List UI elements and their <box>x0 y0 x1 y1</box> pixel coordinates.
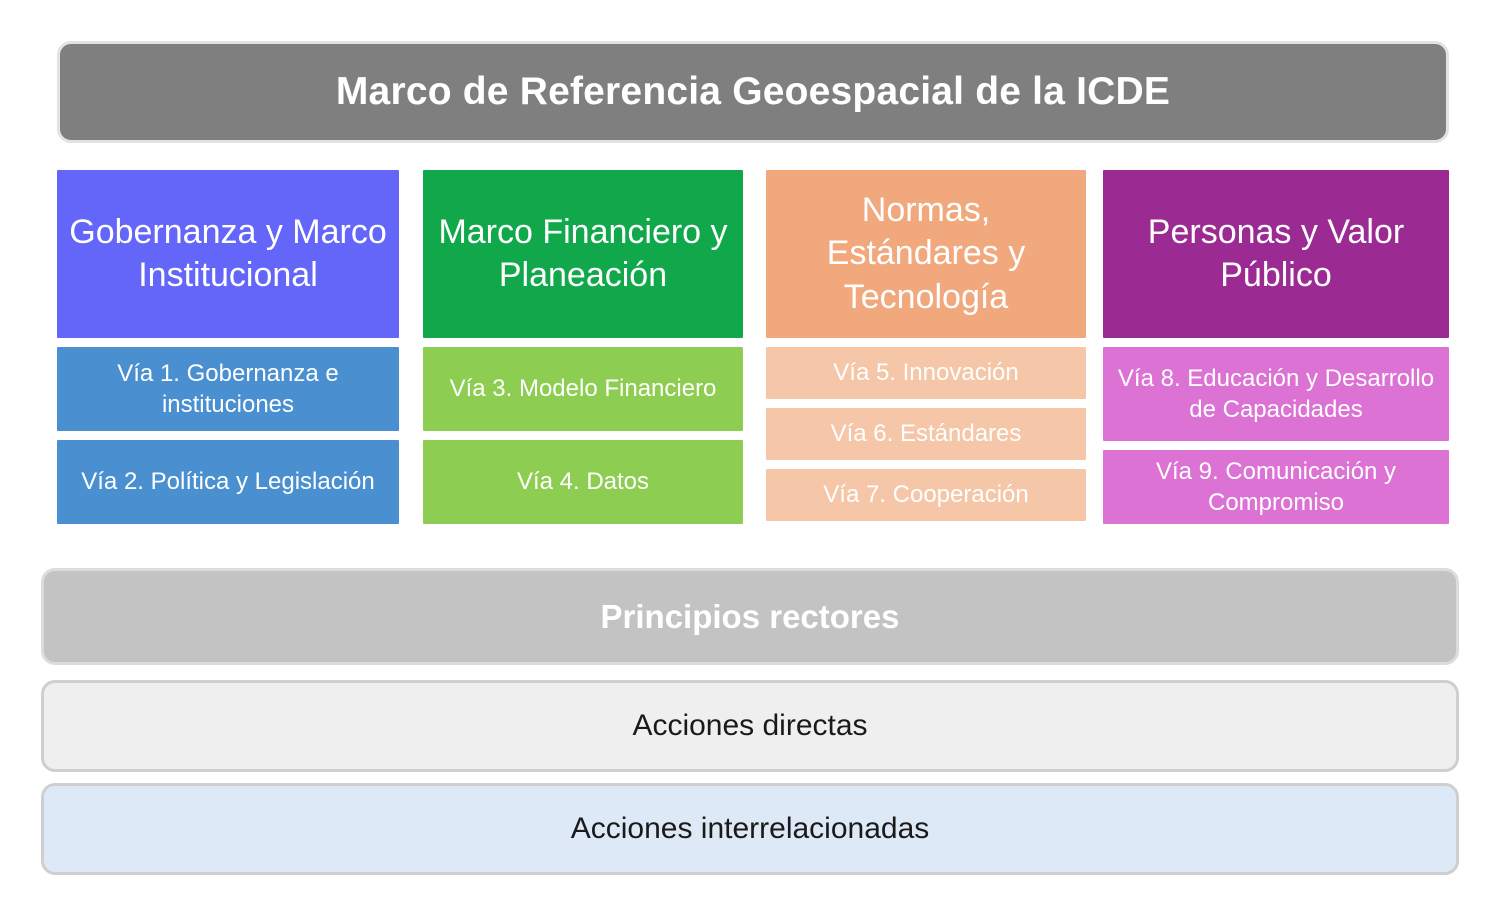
pillar-header-normas-estandares-tecnologia[interactable]: Normas, Estándares y Tecnología <box>766 170 1086 338</box>
footer-bar-acciones-interrelacionadas[interactable]: Acciones interrelacionadas <box>41 783 1459 875</box>
pillar-column-marco-financiero-planeacion: Marco Financiero y Planeación Vía 3. Mod… <box>423 170 743 524</box>
via-box-via-3[interactable]: Vía 3. Modelo Financiero <box>423 347 743 431</box>
pillar-header-marco-financiero-planeacion[interactable]: Marco Financiero y Planeación <box>423 170 743 338</box>
icde-framework-diagram: Marco de Referencia Geoespacial de la IC… <box>0 0 1500 905</box>
pillar-header-gobernanza-marco-institucional[interactable]: Gobernanza y Marco Institucional <box>57 170 399 338</box>
via-box-via-4[interactable]: Vía 4. Datos <box>423 440 743 524</box>
via-box-via-6[interactable]: Vía 6. Estándares <box>766 408 1086 460</box>
via-box-via-1[interactable]: Vía 1. Gobernanza e instituciones <box>57 347 399 431</box>
pillar-columns: Gobernanza y Marco Institucional Vía 1. … <box>0 170 1500 545</box>
page-title: Marco de Referencia Geoespacial de la IC… <box>336 71 1170 114</box>
via-box-via-7[interactable]: Vía 7. Cooperación <box>766 469 1086 521</box>
pillar-header-personas-valor-publico[interactable]: Personas y Valor Público <box>1103 170 1449 338</box>
footer-bar-acciones-directas[interactable]: Acciones directas <box>41 680 1459 772</box>
via-box-via-8[interactable]: Vía 8. Educación y Desarrollo de Capacid… <box>1103 347 1449 441</box>
via-box-via-9[interactable]: Vía 9. Comunicación y Compromiso <box>1103 450 1449 524</box>
via-box-via-5[interactable]: Vía 5. Innovación <box>766 347 1086 399</box>
pillar-column-normas-estandares-tecnologia: Normas, Estándares y Tecnología Vía 5. I… <box>766 170 1086 521</box>
pillar-column-gobernanza-marco-institucional: Gobernanza y Marco Institucional Vía 1. … <box>57 170 399 524</box>
pillar-column-personas-valor-publico: Personas y Valor Público Vía 8. Educació… <box>1103 170 1449 524</box>
via-box-via-2[interactable]: Vía 2. Política y Legislación <box>57 440 399 524</box>
footer-bar-principios-rectores[interactable]: Principios rectores <box>41 568 1459 665</box>
framework-header-banner: Marco de Referencia Geoespacial de la IC… <box>57 41 1449 143</box>
